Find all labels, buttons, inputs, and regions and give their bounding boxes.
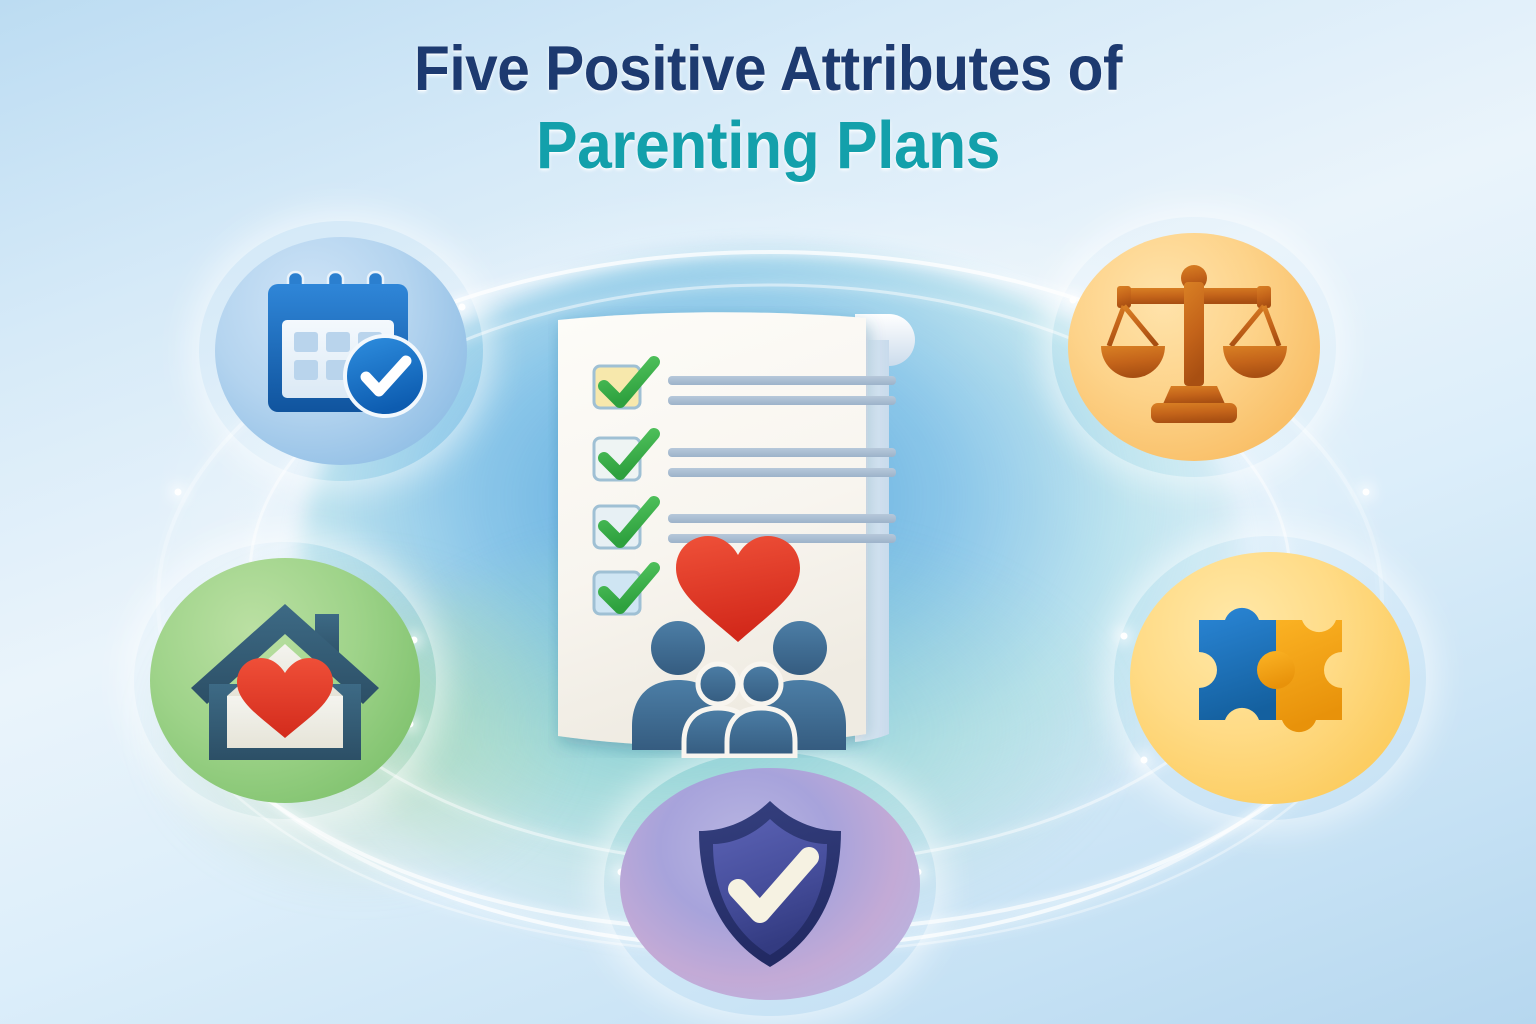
scales-of-justice-icon [1099, 260, 1289, 435]
node-scales-of-justice[interactable]: Legal Fairness [1068, 233, 1320, 461]
puzzle-pieces-icon [1163, 588, 1377, 768]
title-line-2: Parenting Plans [54, 111, 1482, 181]
node-shield-check[interactable]: Child Safety & Protection [620, 768, 920, 1000]
node-calendar-check[interactable]: Schedule / Consistent Routine [215, 237, 467, 465]
calendar-check-icon [246, 266, 436, 436]
home-heart-icon [185, 592, 385, 770]
infographic-canvas: Five Positive Attributes of Parenting Pl… [0, 0, 1536, 1024]
node-home-heart[interactable]: Stable Loving Home [150, 558, 420, 803]
node-puzzle-pieces[interactable]: Cooperation / Fit Together [1130, 552, 1410, 804]
parenting-plan-document[interactable]: parenting-plan-checklist-document [548, 306, 1000, 758]
shield-check-icon [685, 795, 855, 973]
document-graphic [548, 306, 1000, 758]
title-line-1: Five Positive Attributes of [54, 38, 1482, 101]
page-title: Five Positive Attributes of Parenting Pl… [0, 38, 1536, 181]
